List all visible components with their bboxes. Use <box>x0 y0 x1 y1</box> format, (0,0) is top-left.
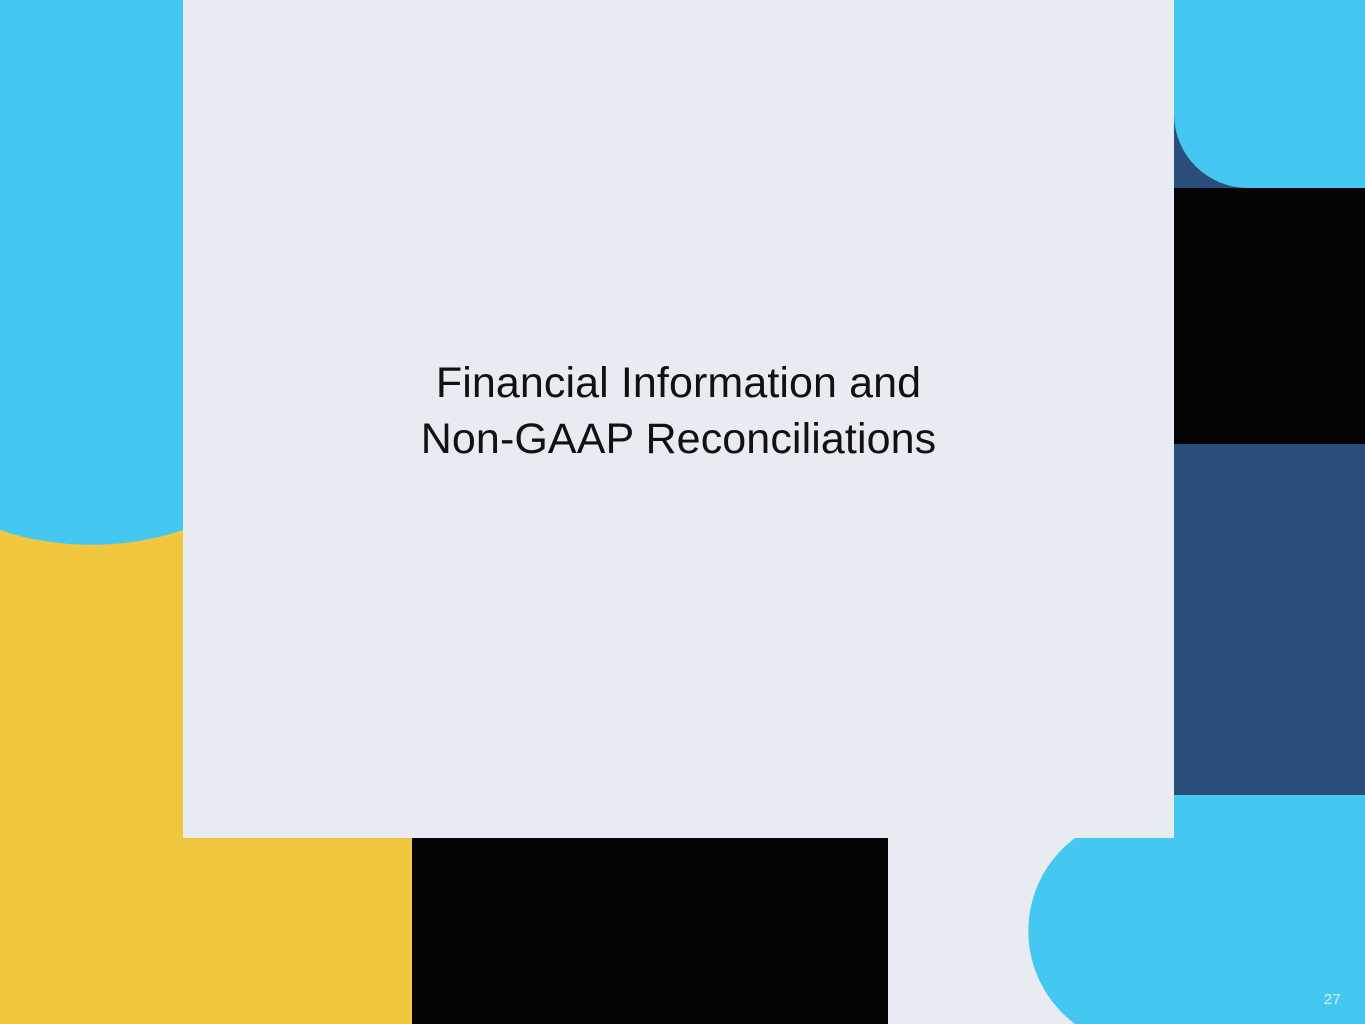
black-bar-bottom <box>412 838 888 1024</box>
slide-title: Financial Information and Non-GAAP Recon… <box>421 356 936 468</box>
black-square-right <box>1174 188 1365 444</box>
cyan-rounded-block-bottom-right <box>1028 838 1365 1024</box>
navy-square-right <box>1174 444 1365 795</box>
page-number: 27 <box>1324 991 1341 1008</box>
title-container: Financial Information and Non-GAAP Recon… <box>183 0 1174 838</box>
cyan-rounded-block-top-right <box>1174 0 1365 188</box>
cyan-rounded-bar-left <box>0 0 183 545</box>
cyan-strip-right <box>1174 795 1365 838</box>
slide-root: Financial Information and Non-GAAP Recon… <box>0 0 1365 1024</box>
